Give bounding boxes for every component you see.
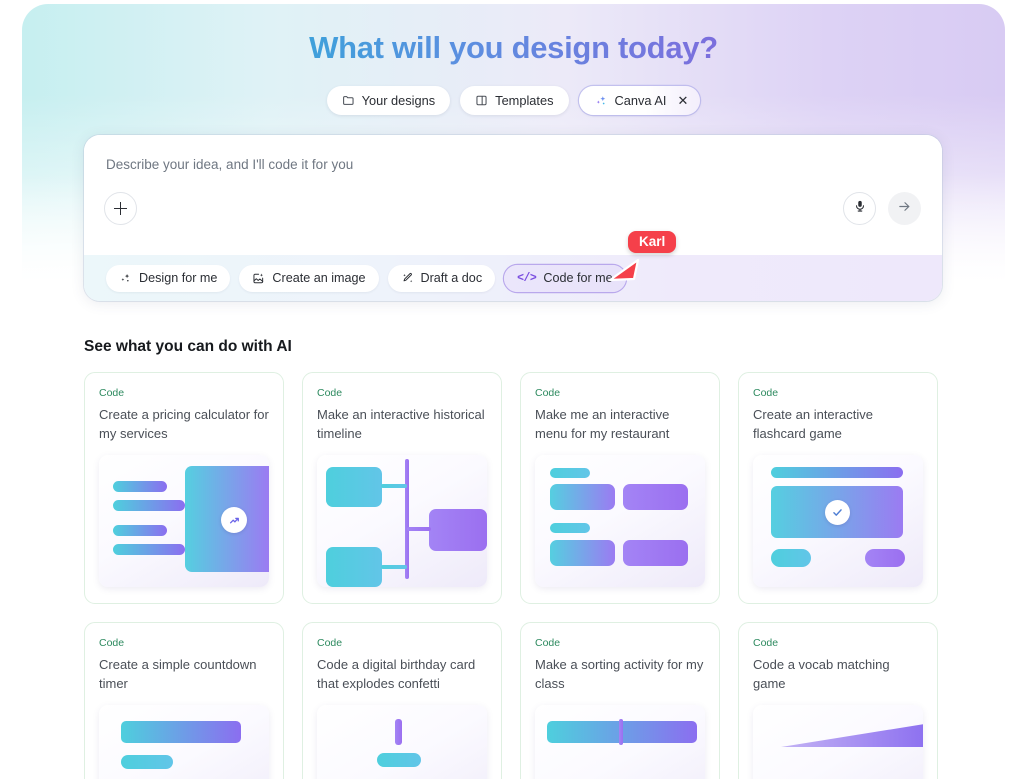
image-wand-icon <box>252 272 265 285</box>
timeline-thumb <box>317 455 487 587</box>
card-tag: Code <box>317 637 487 649</box>
flashcard-thumb <box>753 455 923 587</box>
card-tag: Code <box>99 637 269 649</box>
suggestion-card-grid: Code Create a pricing calculator for my … <box>84 372 946 779</box>
chip-label: Code for me <box>543 271 612 285</box>
chip-design-for-me[interactable]: Design for me <box>106 265 230 292</box>
card-interactive-menu[interactable]: Code Make me an interactive menu for my … <box>520 372 720 604</box>
app-frame: What will you design today? Your designs <box>22 4 1005 779</box>
tab-your-designs[interactable]: Your designs <box>327 86 451 115</box>
card-tag: Code <box>753 387 923 399</box>
tab-label: Canva AI <box>615 93 667 108</box>
tab-canva-ai[interactable]: Canva AI ✕ <box>579 86 701 115</box>
card-vocab-matching-game[interactable]: Code Code a vocab matching game <box>738 622 938 779</box>
cursor-pointer-icon <box>608 256 642 291</box>
card-birthday-card[interactable]: Code Code a digital birthday card that e… <box>302 622 502 779</box>
chip-label: Draft a doc <box>421 271 483 285</box>
card-title: Code a vocab matching game <box>753 656 923 694</box>
card-tag: Code <box>99 387 269 399</box>
card-pricing-calculator[interactable]: Code Create a pricing calculator for my … <box>84 372 284 604</box>
arrow-right-icon <box>897 199 912 219</box>
folder-icon <box>342 94 355 107</box>
page-title: What will you design today? <box>22 30 1005 66</box>
prompt-panel: Describe your idea, and I'll code it for… <box>84 135 942 301</box>
sparkle-icon <box>119 272 132 285</box>
card-tag: Code <box>753 637 923 649</box>
card-title: Make an interactive historical timeline <box>317 406 487 444</box>
card-title: Create an interactive flashcard game <box>753 406 923 444</box>
card-tag: Code <box>535 387 705 399</box>
microphone-icon <box>853 199 867 218</box>
section-title: See what you can do with AI <box>84 338 292 356</box>
card-tag: Code <box>535 637 705 649</box>
card-countdown-timer[interactable]: Code Create a simple countdown timer <box>84 622 284 779</box>
vocab-thumb <box>753 705 923 779</box>
prompt-placeholder: Describe your idea, and I'll code it for… <box>106 157 353 172</box>
card-tag: Code <box>317 387 487 399</box>
countdown-thumb <box>99 705 269 779</box>
chip-create-an-image[interactable]: Create an image <box>239 265 378 292</box>
send-button[interactable] <box>888 192 921 225</box>
card-sorting-activity[interactable]: Code Make a sorting activity for my clas… <box>520 622 720 779</box>
card-title: Create a pricing calculator for my servi… <box>99 406 269 444</box>
birthday-thumb <box>317 705 487 779</box>
tab-templates[interactable]: Templates <box>460 86 568 115</box>
microphone-button[interactable] <box>843 192 876 225</box>
card-historical-timeline[interactable]: Code Make an interactive historical time… <box>302 372 502 604</box>
close-icon[interactable]: ✕ <box>677 93 688 109</box>
quick-action-chips: Design for me Create an image <box>84 255 942 301</box>
tab-label: Your designs <box>362 93 436 108</box>
pen-sparkle-icon <box>401 272 414 285</box>
menu-thumb <box>535 455 705 587</box>
tab-bar: Your designs Templates <box>22 86 1005 115</box>
pricing-calculator-thumb <box>99 455 269 587</box>
layout-icon <box>475 94 488 107</box>
card-title: Make a sorting activity for my class <box>535 656 705 694</box>
sorting-thumb <box>535 705 705 779</box>
cursor-label: Karl <box>628 231 676 253</box>
chip-draft-a-doc[interactable]: Draft a doc <box>388 265 496 292</box>
chip-label: Create an image <box>272 271 365 285</box>
card-title: Make me an interactive menu for my resta… <box>535 406 705 444</box>
card-title: Code a digital birthday card that explod… <box>317 656 487 694</box>
prompt-input-area[interactable]: Describe your idea, and I'll code it for… <box>84 135 942 255</box>
card-flashcard-game[interactable]: Code Create an interactive flashcard gam… <box>738 372 938 604</box>
card-title: Create a simple countdown timer <box>99 656 269 694</box>
trend-up-badge <box>221 507 247 533</box>
add-attachment-button[interactable] <box>104 192 137 225</box>
check-badge <box>825 500 850 525</box>
code-icon: </> <box>517 272 536 285</box>
tab-label: Templates <box>495 93 553 108</box>
chip-label: Design for me <box>139 271 217 285</box>
sparkle-icon <box>594 94 608 108</box>
